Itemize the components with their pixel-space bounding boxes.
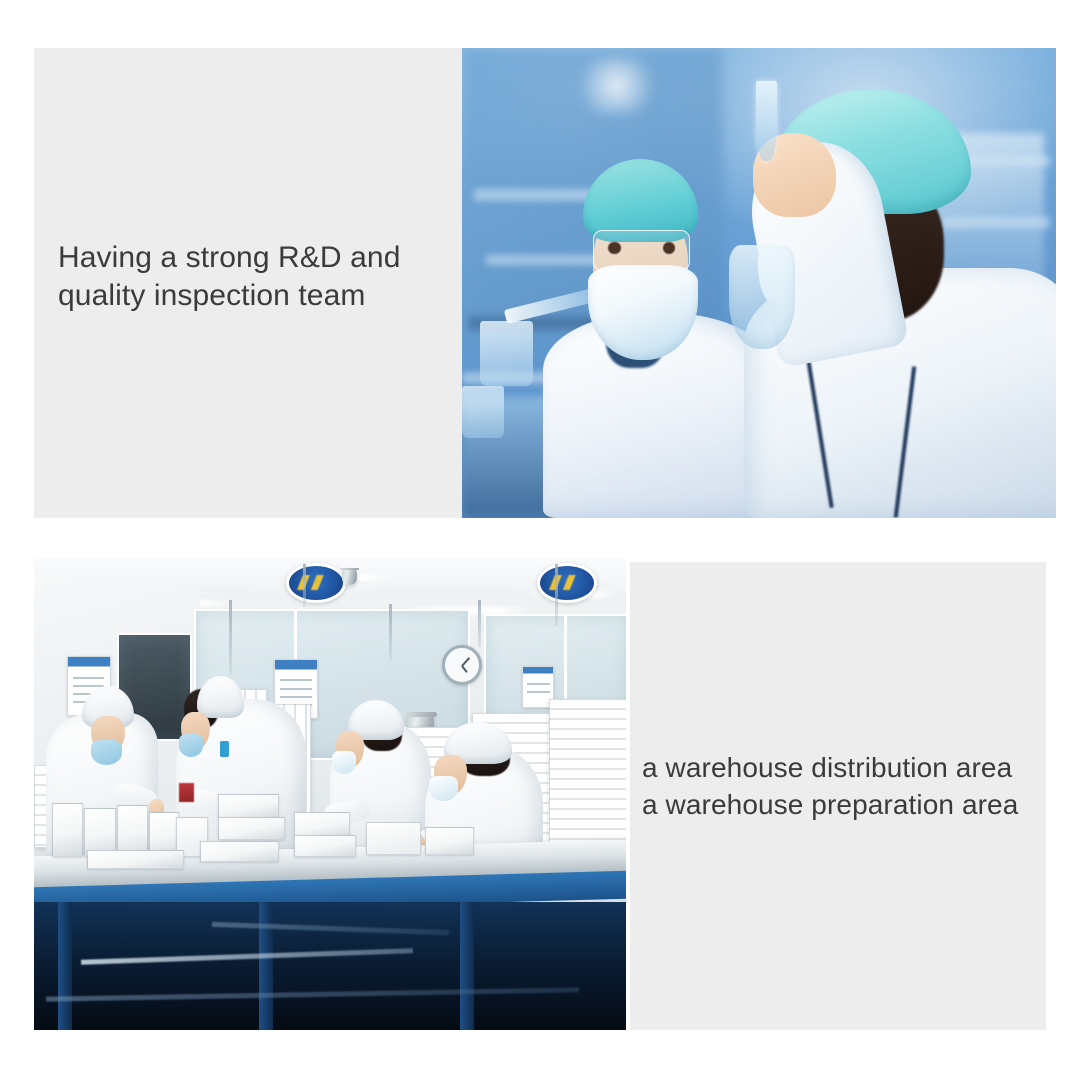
lab-beaker-icon (480, 321, 533, 387)
warehouse-scene (34, 557, 626, 1030)
face-mask-icon (429, 776, 457, 800)
hanging-fixture (229, 600, 232, 676)
warning-sign-icon (286, 563, 346, 603)
lab-beaker-icon (462, 386, 504, 438)
product-carton (425, 827, 474, 855)
metal-container-icon (342, 569, 357, 585)
table-leg (58, 902, 72, 1030)
product-carton (218, 817, 285, 840)
hanging-fixture (303, 564, 306, 607)
face-mask-icon (332, 751, 356, 774)
warehouse-caption-text: a warehouse distribution area a warehous… (642, 749, 1046, 823)
product-carton (294, 835, 355, 857)
warehouse-caption-panel: a warehouse distribution area a warehous… (630, 562, 1046, 1030)
hanging-fixture (478, 600, 481, 647)
face-mask-icon (179, 734, 204, 757)
lab-flask-icon (729, 245, 794, 348)
product-carton (87, 850, 184, 869)
lab-ceiling-light-glow (569, 57, 664, 113)
worker-badge (220, 741, 229, 757)
product-carton (218, 794, 279, 820)
table-leg (259, 902, 273, 1030)
hanging-fixture (389, 604, 392, 661)
rnd-caption-text: Having a strong R&D and quality inspecti… (58, 239, 454, 316)
product-carton (200, 841, 279, 862)
lab-scene (462, 48, 1056, 518)
worker-glove (179, 783, 195, 802)
product-carton (117, 805, 149, 857)
packing-table-underside (34, 902, 626, 1030)
wall-clock-icon (442, 645, 482, 685)
lab-quality-inspection-photo (462, 48, 1056, 518)
product-carton (52, 803, 84, 857)
rnd-quality-section: Having a strong R&D and quality inspecti… (34, 48, 1056, 518)
lab-eye (608, 242, 620, 255)
table-leg (460, 902, 474, 1030)
warning-sign-icon (537, 563, 597, 603)
face-mask-icon (91, 740, 122, 764)
lab-vial-icon (756, 81, 777, 161)
rnd-caption-panel: Having a strong R&D and quality inspecti… (34, 48, 462, 518)
warehouse-packing-photo (34, 557, 626, 1030)
warehouse-section: a warehouse distribution area a warehous… (34, 557, 1046, 1030)
product-carton (366, 822, 421, 855)
hanging-fixture (555, 564, 558, 625)
carton-stack (549, 699, 626, 843)
